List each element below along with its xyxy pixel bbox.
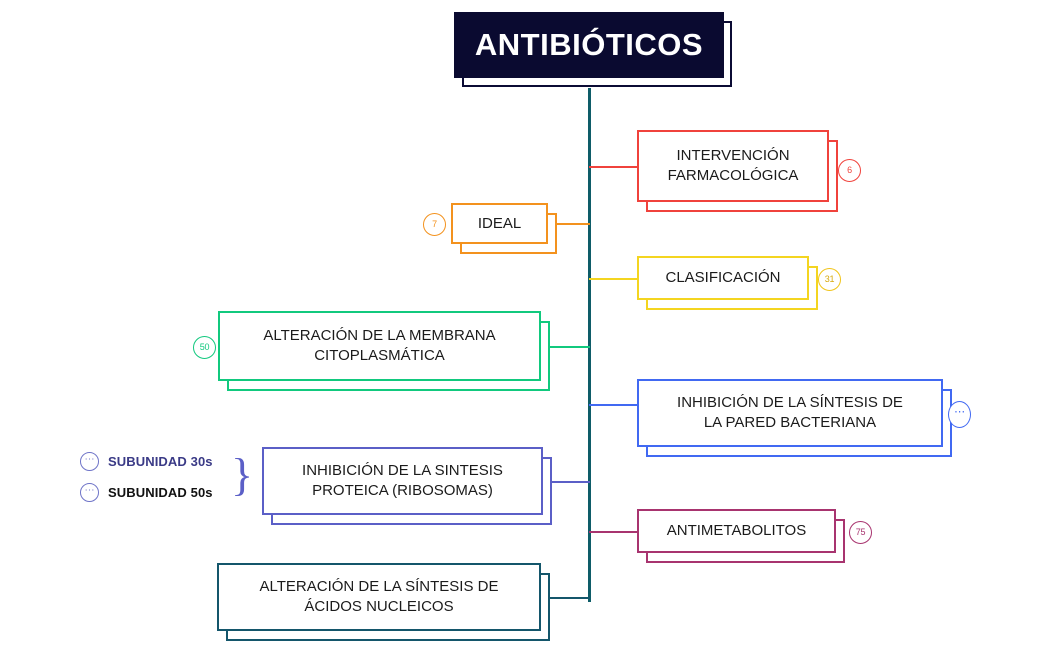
node-intervencion-farmacologica[interactable]: INTERVENCIÓN FARMACOLÓGICA (637, 130, 829, 202)
subitem-subunidad-50s[interactable]: ⋯ SUBUNIDAD 50s (80, 483, 213, 502)
node-label: ANTIMETABOLITOS (655, 521, 818, 541)
node-card[interactable]: ANTIMETABOLITOS (637, 509, 836, 553)
node-card[interactable]: INTERVENCIÓN FARMACOLÓGICA (637, 130, 829, 202)
badge-inhibicion-sintesis-pared-bacteriana[interactable]: ⋯ (948, 401, 971, 428)
subitem-label: SUBUNIDAD 50s (108, 485, 213, 500)
node-label: INTERVENCIÓN FARMACOLÓGICA (656, 146, 811, 186)
connector-intervencion-farmacologica (589, 166, 637, 168)
root-node-antibioticos[interactable]: ANTIBIÓTICOS (454, 12, 724, 78)
node-inhibicion-sintesis-proteica[interactable]: INHIBICIÓN DE LA SINTESIS PROTEICA (RIBO… (262, 447, 543, 515)
ellipsis-icon[interactable]: ⋯ (80, 452, 99, 471)
node-card[interactable]: IDEAL (451, 203, 548, 244)
subitem-label: SUBUNIDAD 30s (108, 454, 213, 469)
node-label: INHIBICIÓN DE LA SÍNTESIS DE LA PARED BA… (665, 393, 915, 433)
mindmap-canvas: ANTIBIÓTICOS INTERVENCIÓN FARMACOLÓGICA … (0, 0, 1050, 650)
node-card[interactable]: INHIBICIÓN DE LA SÍNTESIS DE LA PARED BA… (637, 379, 943, 447)
node-antimetabolitos[interactable]: ANTIMETABOLITOS (637, 509, 836, 553)
node-label: INHIBICIÓN DE LA SINTESIS PROTEICA (RIBO… (290, 461, 515, 501)
brace-subunidades: } (231, 452, 253, 498)
node-card[interactable]: ALTERACIÓN DE LA MEMBRANA CITOPLASMÁTICA (218, 311, 541, 381)
node-card[interactable]: INHIBICIÓN DE LA SINTESIS PROTEICA (RIBO… (262, 447, 543, 515)
node-label: IDEAL (466, 214, 533, 234)
trunk-bottom-cap (588, 599, 591, 602)
badge-antimetabolitos[interactable]: 75 (849, 521, 872, 544)
connector-antimetabolitos (589, 531, 637, 533)
node-label: ALTERACIÓN DE LA SÍNTESIS DE ÁCIDOS NUCL… (248, 577, 511, 617)
node-alteracion-sintesis-acidos-nucleicos[interactable]: ALTERACIÓN DE LA SÍNTESIS DE ÁCIDOS NUCL… (217, 563, 541, 631)
ellipsis-icon[interactable]: ⋯ (80, 483, 99, 502)
node-card[interactable]: CLASIFICACIÓN (637, 256, 809, 300)
badge-clasificacion[interactable]: 31 (818, 268, 841, 291)
node-card[interactable]: ALTERACIÓN DE LA SÍNTESIS DE ÁCIDOS NUCL… (217, 563, 541, 631)
node-inhibicion-sintesis-pared-bacteriana[interactable]: INHIBICIÓN DE LA SÍNTESIS DE LA PARED BA… (637, 379, 943, 447)
badge-intervencion-farmacologica[interactable]: 6 (838, 159, 861, 182)
root-node-card[interactable]: ANTIBIÓTICOS (454, 12, 724, 78)
connector-inhibicion-sintesis-pared-bacteriana (589, 404, 637, 406)
subitem-subunidad-30s[interactable]: ⋯ SUBUNIDAD 30s (80, 452, 213, 471)
badge-ideal[interactable]: 7 (423, 213, 446, 236)
connector-clasificacion (589, 278, 637, 280)
node-alteracion-membrana-citoplasmatica[interactable]: ALTERACIÓN DE LA MEMBRANA CITOPLASMÁTICA (218, 311, 541, 381)
node-ideal[interactable]: IDEAL (451, 203, 548, 244)
node-clasificacion[interactable]: CLASIFICACIÓN (637, 256, 809, 300)
node-label: ALTERACIÓN DE LA MEMBRANA CITOPLASMÁTICA (251, 326, 507, 366)
node-label: CLASIFICACIÓN (653, 268, 792, 288)
page-title: ANTIBIÓTICOS (475, 27, 703, 63)
badge-alteracion-membrana-citoplasmatica[interactable]: 50 (193, 336, 216, 359)
